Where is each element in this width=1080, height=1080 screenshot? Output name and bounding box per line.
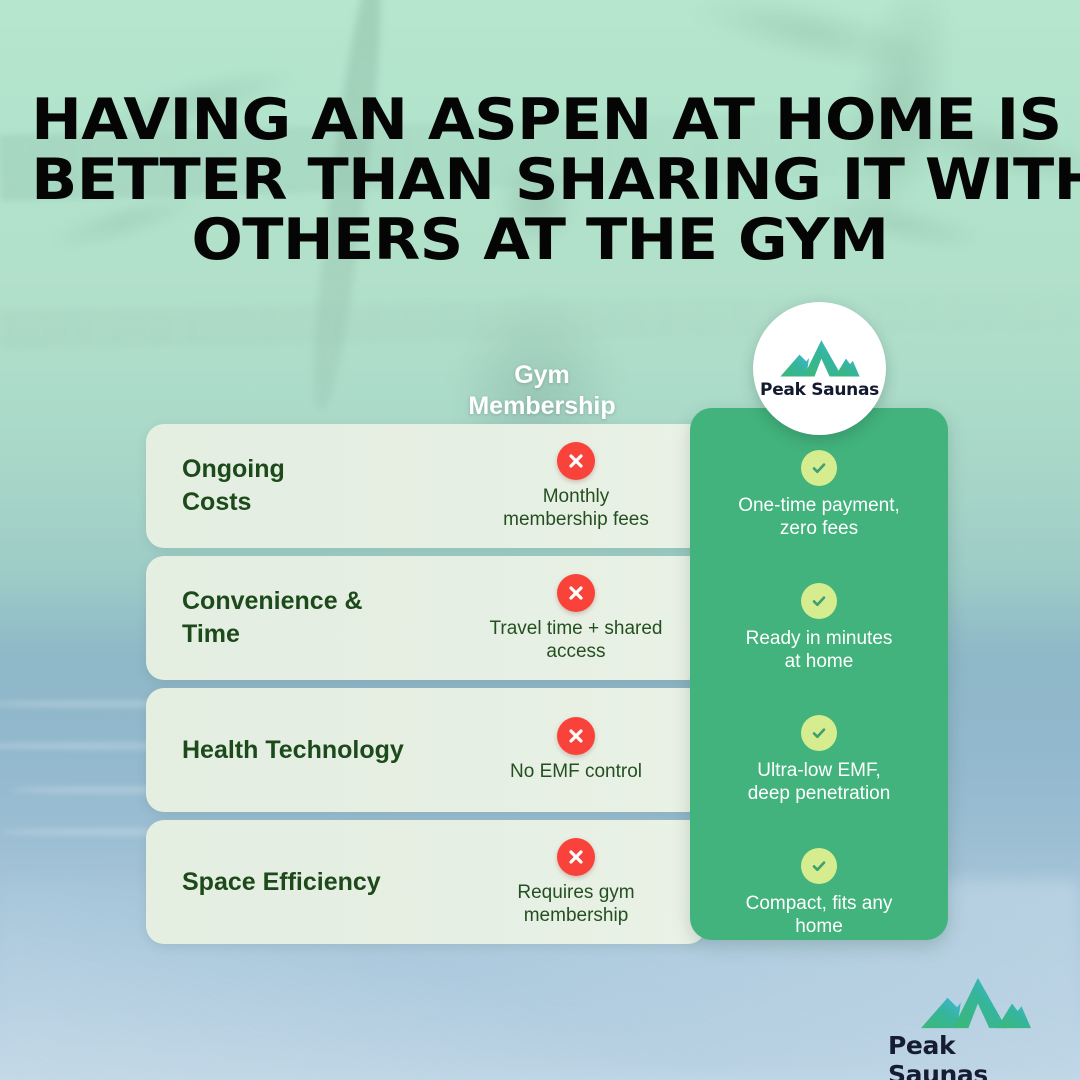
- row-gym-value-line-1: Requires gym: [446, 881, 706, 904]
- row-gym-value-line-2: membership fees: [446, 508, 706, 531]
- panel-item: Compact, fits any home: [690, 848, 948, 938]
- row-gym-value-line-2: access: [446, 640, 706, 663]
- page-title-line-3: OTHERS AT THE GYM: [31, 210, 1049, 270]
- page-title: HAVING AN ASPEN AT HOME IS BETTER THAN S…: [31, 90, 1049, 270]
- brand-name: Peak Saunas: [888, 1031, 1063, 1080]
- x-circle-icon: [557, 442, 595, 480]
- page-title-line-2: BETTER THAN SHARING IT WITH: [31, 150, 1049, 210]
- row-feature-label-line-2: Costs: [182, 486, 446, 519]
- row-gym-value-line-1: Travel time + shared: [446, 617, 706, 640]
- column-header-gym-membership: Gym Membership: [432, 360, 652, 422]
- row-gym-value: Monthly membership fees: [446, 442, 706, 531]
- footer-brand-logo: Peak Saunas: [888, 975, 1063, 1080]
- panel-item-line-1: Ready in minutes: [690, 627, 948, 650]
- x-circle-icon: [557, 717, 595, 755]
- row-gym-value-line-1: No EMF control: [446, 760, 706, 783]
- table-row: Ongoing Costs Monthly membership fees: [146, 424, 706, 548]
- check-circle-icon: [801, 450, 837, 486]
- panel-item-line-2: at home: [690, 650, 948, 673]
- table-row: Convenience & Time Travel time + shared …: [146, 556, 706, 680]
- row-feature-label-line-1: Health Technology: [182, 734, 446, 767]
- brand-badge: Peak Saunas: [753, 302, 886, 435]
- row-feature-label-line-1: Convenience &: [182, 585, 446, 618]
- panel-item-line-1: Compact, fits any: [690, 892, 948, 915]
- column-header-line-1: Gym: [432, 360, 652, 391]
- panel-item-line-1: Ultra-low EMF,: [690, 759, 948, 782]
- check-circle-icon: [801, 583, 837, 619]
- panel-item: Ready in minutes at home: [690, 583, 948, 673]
- table-row: Health Technology No EMF control: [146, 688, 706, 812]
- comparison-table: Ongoing Costs Monthly membership fees Co…: [146, 424, 706, 952]
- row-gym-value: No EMF control: [446, 717, 706, 783]
- panel-item: Ultra-low EMF, deep penetration: [690, 715, 948, 805]
- row-feature-label-line-1: Space Efficiency: [182, 866, 446, 899]
- peak-saunas-panel: One-time payment, zero fees Ready in min…: [690, 408, 948, 940]
- panel-item-line-2: zero fees: [690, 517, 948, 540]
- panel-item: One-time payment, zero fees: [690, 450, 948, 540]
- row-gym-value: Travel time + shared access: [446, 574, 706, 663]
- column-header-line-2: Membership: [432, 391, 652, 422]
- row-feature-label: Health Technology: [146, 734, 446, 767]
- mountain-icon: [779, 338, 861, 378]
- row-gym-value-line-1: Monthly: [446, 485, 706, 508]
- x-circle-icon: [557, 838, 595, 876]
- page-title-line-1: HAVING AN ASPEN AT HOME IS: [31, 90, 1049, 150]
- x-circle-icon: [557, 574, 595, 612]
- row-feature-label-line-1: Ongoing: [182, 453, 446, 486]
- row-feature-label: Ongoing Costs: [146, 453, 446, 519]
- panel-item-line-2: deep penetration: [690, 782, 948, 805]
- mountain-icon: [912, 975, 1040, 1030]
- table-row: Space Efficiency Requires gym membership: [146, 820, 706, 944]
- panel-item-line-1: One-time payment,: [690, 494, 948, 517]
- check-circle-icon: [801, 848, 837, 884]
- row-feature-label-line-2: Time: [182, 618, 446, 651]
- brand-name: Peak Saunas: [760, 380, 879, 400]
- row-feature-label: Space Efficiency: [146, 866, 446, 899]
- row-gym-value: Requires gym membership: [446, 838, 706, 927]
- row-gym-value-line-2: membership: [446, 904, 706, 927]
- check-circle-icon: [801, 715, 837, 751]
- infographic-canvas: HAVING AN ASPEN AT HOME IS BETTER THAN S…: [0, 0, 1080, 1080]
- row-feature-label: Convenience & Time: [146, 585, 446, 651]
- panel-item-line-2: home: [690, 915, 948, 938]
